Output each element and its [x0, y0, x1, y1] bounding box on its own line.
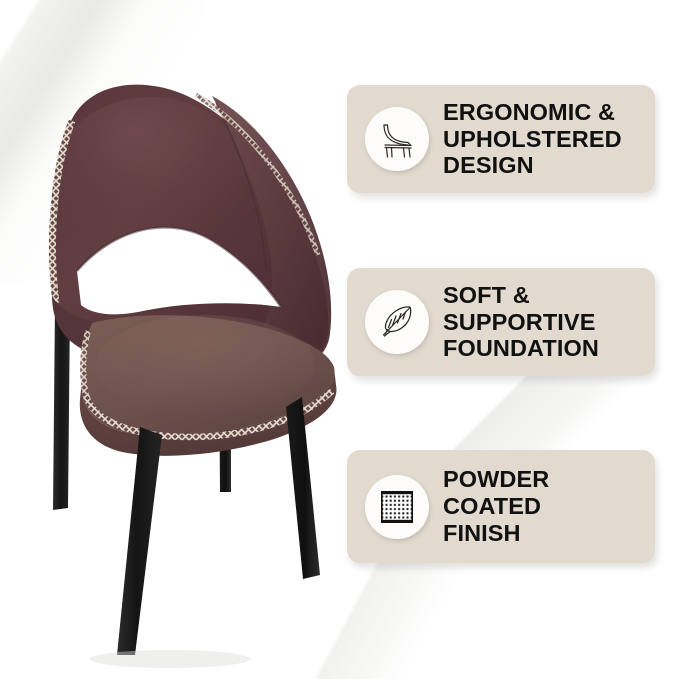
product-feature-infographic: Ergonomic & Upholstered Design: [0, 0, 679, 679]
feature-card-soft-supportive-foundation[interactable]: Soft & Supportive Foundation: [347, 268, 655, 376]
chair-leg-front-right: [286, 397, 320, 579]
feather-icon: [365, 290, 429, 354]
chair-leg-front-left: [117, 427, 162, 655]
feature-card-powder-coated-finish[interactable]: Powder Coated Finish: [347, 450, 655, 563]
feature-card-label: Powder Coated Finish: [443, 466, 549, 546]
feature-card-label: Soft & Supportive Foundation: [443, 282, 599, 362]
powder-texture-icon: [365, 475, 429, 539]
chair-product-image: [0, 55, 350, 679]
feature-card-ergonomic-upholstered-design[interactable]: Ergonomic & Upholstered Design: [347, 85, 655, 193]
chair-side-icon: [365, 107, 429, 171]
feature-card-label: Ergonomic & Upholstered Design: [443, 99, 622, 179]
